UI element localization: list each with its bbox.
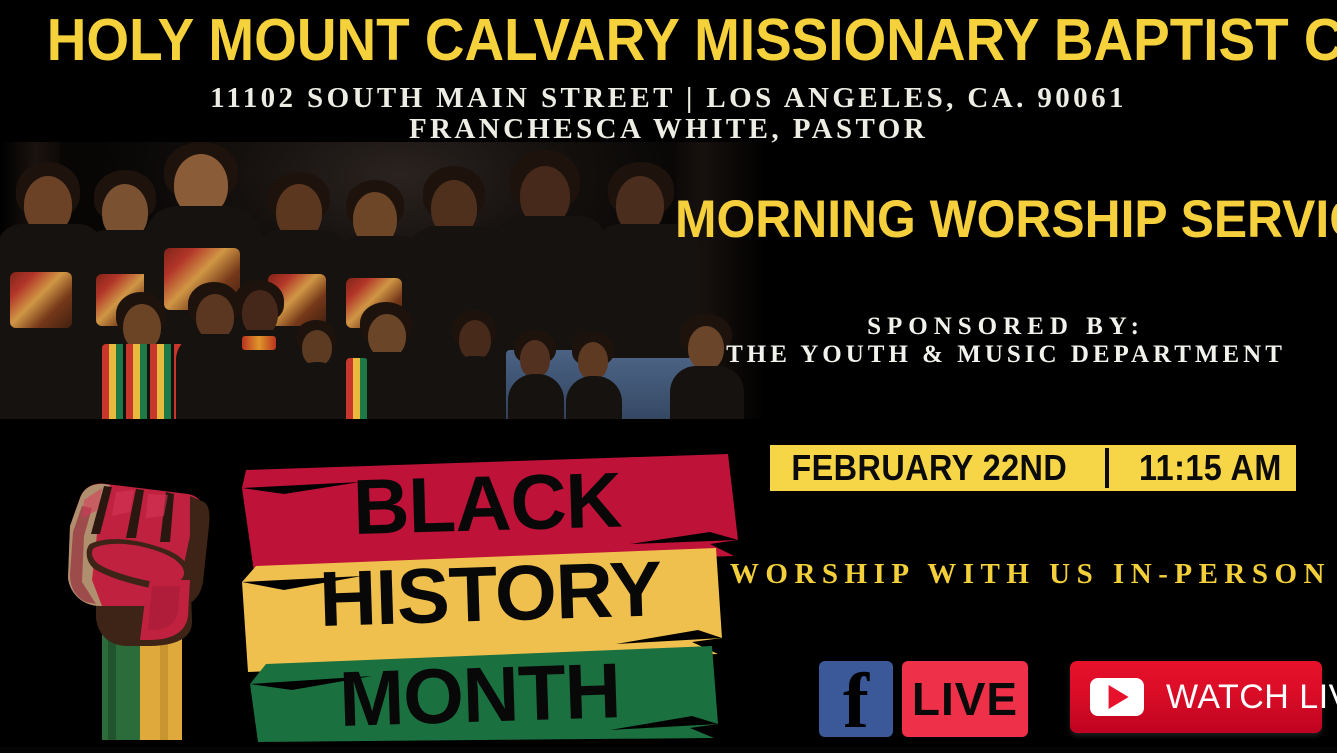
- datetime-separator: [1105, 448, 1109, 488]
- facebook-f-glyph: f: [843, 663, 869, 739]
- youtube-watch-live-label: WATCH LIVE: [1166, 678, 1337, 717]
- church-name-title: HOLY MOUNT CALVARY MISSIONARY BAPTIST CH…: [47, 9, 1290, 71]
- sponsored-by-label: SPONSORED BY:: [675, 313, 1337, 341]
- event-date: FEBRUARY 22ND: [792, 450, 1068, 486]
- bhm-line-1: BLACK: [352, 461, 622, 546]
- raised-fist-icon: [40, 440, 240, 740]
- youth-choir-photo: [0, 142, 766, 419]
- youtube-watch-live-button[interactable]: WATCH LIVE: [1070, 661, 1322, 733]
- facebook-live-label[interactable]: LIVE: [902, 661, 1028, 737]
- facebook-live-button[interactable]: f LIVE: [819, 661, 1028, 737]
- sponsor-name: THE YOUTH & MUSIC DEPARTMENT: [675, 341, 1337, 369]
- morning-worship-service-title: MORNING WORSHIP SERVICE: [675, 192, 1297, 248]
- play-triangle-icon: [1109, 685, 1129, 709]
- facebook-icon[interactable]: f: [819, 661, 893, 737]
- event-datetime-bar: FEBRUARY 22ND 11:15 AM: [770, 445, 1296, 491]
- bhm-line-3: MONTH: [338, 651, 621, 738]
- church-address: 11102 SOUTH MAIN STREET | LOS ANGELES, C…: [0, 82, 1337, 115]
- event-time: 11:15 AM: [1139, 450, 1282, 486]
- bhm-line-2: HISTORY: [318, 549, 662, 638]
- church-service-flyer: HOLY MOUNT CALVARY MISSIONARY BAPTIST CH…: [0, 0, 1337, 753]
- youtube-play-icon: [1090, 678, 1144, 716]
- in-person-invitation: WORSHIP WITH US IN-PERSON: [675, 558, 1337, 591]
- black-history-month-banner: BLACK HISTORY MONTH: [240, 448, 740, 743]
- bottom-bar: [0, 747, 1337, 753]
